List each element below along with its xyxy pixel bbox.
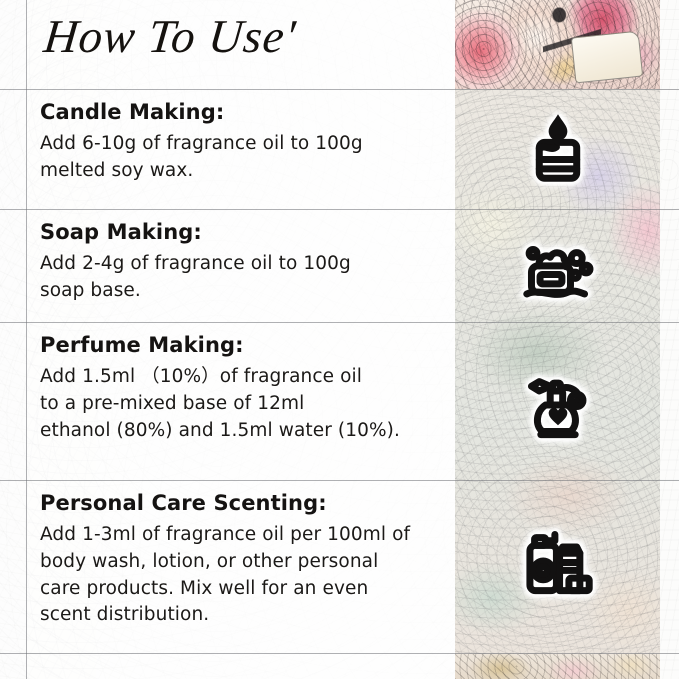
perfume-bottle-icon — [515, 362, 601, 448]
bottom-floral-photo — [455, 654, 660, 679]
page-title: How To Use' — [42, 14, 299, 61]
divider-rule-2 — [0, 209, 679, 210]
bottom-photo-ink-lines — [455, 654, 660, 679]
section-body-line: melted soy wax. — [40, 158, 440, 185]
section-body-line: scent distribution. — [40, 602, 440, 629]
section-body-line: Add 1.5ml （10%）of fragrance oil — [40, 364, 440, 391]
top-floral-photo — [455, 0, 660, 89]
section-body-line: care products. Mix well for an even — [40, 576, 440, 603]
section-body-line: Add 1-3ml of fragrance oil per 100ml of — [40, 522, 440, 549]
paper-tag — [571, 31, 643, 84]
divider-rule-3 — [0, 322, 679, 323]
section-heading: Candle Making: — [40, 100, 440, 124]
soap-bar-icon — [515, 226, 601, 312]
section-body-line: Add 6-10g of fragrance oil to 100g — [40, 131, 440, 158]
section-personal-care-scenting: Personal Care Scenting: Add 1-3ml of fra… — [40, 491, 440, 629]
section-candle-making: Candle Making: Add 6-10g of fragrance oi… — [40, 100, 440, 185]
lotion-bottles-icon — [515, 518, 601, 604]
section-body-line: ethanol (80%) and 1.5ml water (10%). — [40, 418, 440, 445]
divider-rule-4 — [0, 480, 679, 481]
right-edge-fade — [660, 0, 679, 679]
section-heading: Personal Care Scenting: — [40, 491, 440, 515]
section-heading: Soap Making: — [40, 220, 440, 244]
section-perfume-making: Perfume Making: Add 1.5ml （10%）of fragra… — [40, 333, 440, 444]
section-body-line: soap base. — [40, 278, 440, 305]
section-heading: Perfume Making: — [40, 333, 440, 357]
section-body-line: Add 2-4g of fragrance oil to 100g — [40, 251, 440, 278]
how-to-use-card: How To Use' Candle Making: Add 6-10g of … — [0, 0, 679, 679]
section-body-line: body wash, lotion, or other personal — [40, 549, 440, 576]
candle-icon — [515, 104, 601, 190]
divider-rule-5 — [0, 653, 679, 654]
divider-rule-1 — [0, 89, 679, 90]
section-body-line: to a pre-mixed base of 12ml — [40, 391, 440, 418]
section-soap-making: Soap Making: Add 2-4g of fragrance oil t… — [40, 220, 440, 305]
left-vertical-rule — [26, 0, 27, 679]
